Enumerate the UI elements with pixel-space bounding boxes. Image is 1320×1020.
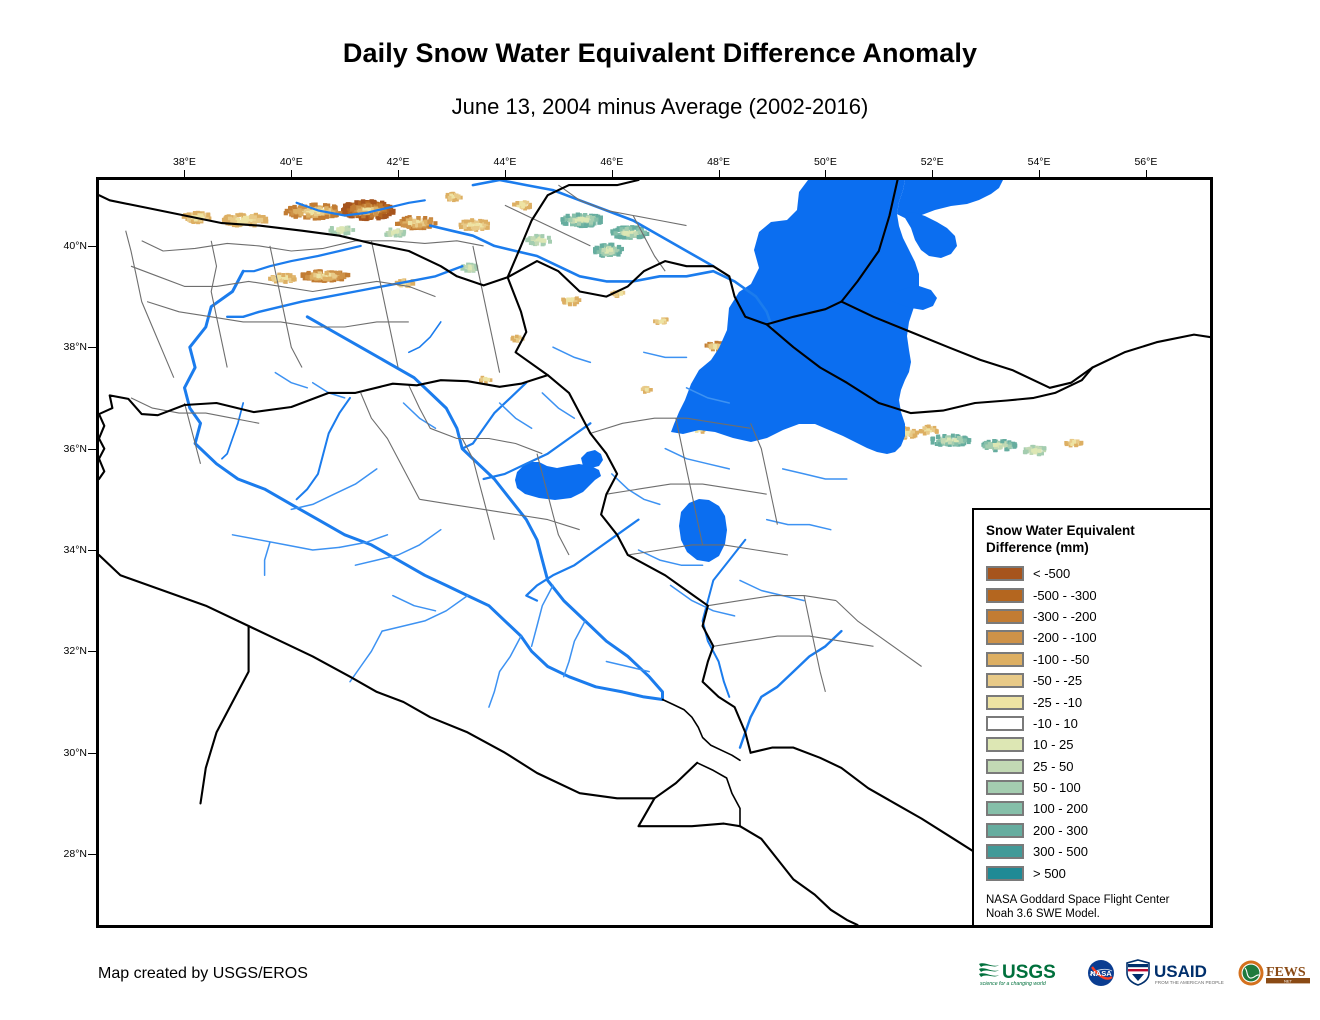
legend-swatch	[986, 695, 1024, 710]
swe-cell	[624, 231, 628, 235]
swe-cell	[337, 271, 341, 275]
map-credit: Map created by USGS/EROS	[98, 965, 308, 983]
swe-cell	[515, 335, 519, 339]
swe-cell	[484, 220, 488, 224]
swe-cell	[294, 214, 298, 218]
swe-cell	[513, 339, 517, 343]
legend-row: < -500	[986, 563, 1210, 584]
nasa-logo-icon: NASA	[1087, 959, 1115, 987]
swe-cell	[307, 271, 311, 275]
swe-cell	[433, 221, 437, 225]
swe-cell	[614, 231, 618, 235]
legend-row: 200 - 300	[986, 820, 1210, 841]
swe-cell	[416, 216, 420, 220]
page-title: Daily Snow Water Equivalent Difference A…	[0, 38, 1320, 69]
usgs-logo[interactable]: USGS science for a changing world	[978, 958, 1078, 988]
swe-cell	[547, 236, 551, 240]
swe-cell	[231, 218, 235, 222]
swe-cell	[521, 205, 525, 209]
page-subtitle: June 13, 2004 minus Average (2002-2016)	[0, 94, 1320, 120]
swe-cell	[576, 213, 580, 217]
swe-cell	[655, 319, 659, 323]
swe-cell	[366, 203, 370, 207]
swe-cell	[401, 233, 405, 237]
legend-swatch	[986, 716, 1024, 731]
svg-text:FROM THE AMERICAN PEOPLE: FROM THE AMERICAN PEOPLE	[1155, 980, 1224, 985]
swe-cell	[922, 426, 926, 430]
legend-swatch	[986, 566, 1024, 581]
swe-cell	[617, 245, 621, 249]
swe-cell	[931, 441, 935, 445]
legend-row: -200 - -100	[986, 627, 1210, 648]
swe-cell	[395, 229, 399, 233]
swe-cell	[992, 439, 996, 443]
lat-label: 28°N	[40, 848, 87, 860]
svg-text:USGS: USGS	[1002, 962, 1056, 983]
swe-cell	[600, 244, 604, 248]
swe-cell	[985, 444, 989, 448]
swe-cell	[941, 440, 945, 444]
swe-cell	[525, 201, 529, 205]
svg-text:NASA: NASA	[1090, 969, 1112, 978]
swe-cell	[467, 227, 471, 231]
swe-cell	[371, 200, 375, 204]
swe-cell	[382, 214, 386, 218]
swe-cell	[926, 431, 930, 435]
swe-cell	[927, 425, 931, 429]
swe-cell	[709, 344, 713, 348]
fewsnet-logo-icon: FEWS NET	[1237, 958, 1313, 988]
legend-label: 300 - 500	[1033, 844, 1088, 859]
legend-swatch	[986, 759, 1024, 774]
legend-swatch	[986, 737, 1024, 752]
swe-cell	[954, 442, 958, 446]
swe-cell	[463, 225, 467, 229]
lon-label: 38°E	[173, 156, 196, 168]
swe-cell	[1072, 440, 1076, 444]
swe-cell	[298, 208, 302, 212]
legend-row: -10 - 10	[986, 713, 1210, 734]
legend-row: -25 - -10	[986, 691, 1210, 712]
legend-row: -100 - -50	[986, 649, 1210, 670]
swe-cell	[609, 248, 613, 252]
swe-cell	[346, 273, 350, 277]
swe-cell	[486, 378, 490, 382]
legend-swatch	[986, 630, 1024, 645]
legend-row: 10 - 25	[986, 734, 1210, 755]
swe-cell	[562, 300, 566, 304]
swe-cell	[535, 241, 539, 245]
swe-cell	[391, 231, 395, 235]
lon-label: 48°E	[707, 156, 730, 168]
legend-title: Snow Water Equivalent Difference (mm)	[986, 522, 1186, 556]
lat-label: 30°N	[40, 747, 87, 759]
legend-row: -50 - -25	[986, 670, 1210, 691]
swe-cell	[197, 213, 201, 217]
legend-swatch	[986, 823, 1024, 838]
swe-cell	[540, 234, 544, 238]
swe-cell	[292, 205, 296, 209]
lon-label: 44°E	[493, 156, 516, 168]
swe-cell	[332, 204, 336, 208]
swe-cell	[378, 204, 382, 208]
lon-label: 52°E	[921, 156, 944, 168]
swe-cell	[1025, 450, 1029, 454]
swe-cell	[408, 221, 412, 225]
swe-cell	[516, 339, 520, 343]
swe-cell	[920, 430, 924, 434]
swe-cell	[361, 199, 365, 203]
swe-cell	[957, 436, 961, 440]
legend-swatch	[986, 844, 1024, 859]
swe-cell	[572, 214, 576, 218]
swe-cell	[222, 218, 226, 222]
svg-text:NET: NET	[1284, 978, 1293, 983]
swe-cell	[1042, 446, 1046, 450]
swe-cell	[410, 282, 414, 286]
swe-cell	[618, 235, 622, 239]
swe-cell	[577, 222, 581, 226]
swe-cell	[568, 218, 572, 222]
swe-cell	[464, 265, 468, 269]
swe-cell	[291, 277, 295, 281]
legend-row: -500 - -300	[986, 584, 1210, 605]
legend-source-line1: NASA Goddard Space Flight Center	[986, 893, 1201, 907]
swe-cell	[475, 226, 479, 230]
swe-cell	[341, 273, 345, 277]
swe-cell	[317, 274, 321, 278]
svg-text:science for a changing world: science for a changing world	[980, 981, 1047, 987]
swe-cell	[989, 445, 993, 449]
swe-cell	[906, 427, 910, 431]
swe-cell	[963, 438, 967, 442]
swe-cell	[637, 235, 641, 239]
swe-cell	[1008, 445, 1012, 449]
swe-cell	[271, 276, 275, 280]
swe-cell	[301, 272, 305, 276]
swe-cell	[568, 302, 572, 306]
swe-cell	[936, 435, 940, 439]
swe-cell	[418, 223, 422, 227]
swe-cell	[599, 220, 603, 224]
legend-label: 50 - 100	[1033, 780, 1081, 795]
legend-swatch	[986, 673, 1024, 688]
swe-cell	[293, 209, 297, 213]
swe-cell	[584, 218, 588, 222]
legend-source-note: NASA Goddard Space Flight Center Noah 3.…	[986, 893, 1201, 921]
swe-cell	[948, 441, 952, 445]
swe-cell	[512, 203, 516, 207]
legend-row: 100 - 200	[986, 798, 1210, 819]
legend-row: > 500	[986, 862, 1210, 883]
lat-label: 34°N	[40, 544, 87, 556]
swe-cell	[630, 234, 634, 238]
swe-cell	[602, 248, 606, 252]
swe-cell	[584, 223, 588, 227]
lat-label: 36°N	[40, 443, 87, 455]
swe-cell	[306, 213, 310, 217]
swe-cell	[530, 241, 534, 245]
legend-row: 25 - 50	[986, 756, 1210, 777]
swe-cell	[573, 302, 577, 306]
legend-label: -50 - -25	[1033, 673, 1082, 688]
swe-cell	[324, 206, 328, 210]
legend-swatch	[986, 780, 1024, 795]
swe-cell	[193, 211, 197, 215]
swe-cell	[412, 219, 416, 223]
swe-cell	[1013, 442, 1017, 446]
swe-cell	[284, 280, 288, 284]
nasa-logo[interactable]: NASA	[1087, 958, 1115, 988]
swe-cell	[257, 218, 261, 222]
legend-swatch	[986, 609, 1024, 624]
usaid-logo[interactable]: USAID FROM THE AMERICAN PEOPLE	[1124, 958, 1228, 988]
swe-cell	[1000, 439, 1004, 443]
legend-row: -300 - -200	[986, 606, 1210, 627]
legend-label: < -500	[1033, 566, 1070, 581]
lat-label: 32°N	[40, 645, 87, 657]
swe-cell	[468, 267, 472, 271]
legend-row: 300 - 500	[986, 841, 1210, 862]
lon-label: 50°E	[814, 156, 837, 168]
swe-cell	[625, 227, 629, 231]
legend-swatch	[986, 652, 1024, 667]
swe-cell	[935, 429, 939, 433]
swe-cell	[342, 207, 346, 211]
swe-cell	[305, 275, 309, 279]
swe-cell	[332, 274, 336, 278]
swe-cell	[457, 196, 461, 200]
swe-cell	[999, 445, 1003, 449]
swe-cell	[541, 239, 545, 243]
map-legend: Snow Water Equivalent Difference (mm) < …	[972, 508, 1212, 927]
legend-label: 100 - 200	[1033, 801, 1088, 816]
legend-label: 10 - 25	[1033, 737, 1073, 752]
swe-cell	[351, 228, 355, 232]
fewsnet-logo[interactable]: FEWS NET	[1237, 958, 1313, 988]
swe-cell	[288, 206, 292, 210]
swe-cell	[548, 240, 552, 244]
swe-cell	[645, 388, 649, 392]
legend-row: 50 - 100	[986, 777, 1210, 798]
legend-label: -200 - -100	[1033, 630, 1097, 645]
swe-cell	[486, 226, 490, 230]
svg-text:USAID: USAID	[1154, 962, 1207, 981]
legend-label: 200 - 300	[1033, 823, 1088, 838]
legend-swatch	[986, 866, 1024, 881]
swe-cell	[1074, 443, 1078, 447]
legend-title-line2: Difference (mm)	[986, 539, 1186, 556]
swe-cell	[931, 437, 935, 441]
swe-cell	[622, 235, 626, 239]
legend-label: -500 - -300	[1033, 588, 1097, 603]
swe-cell	[594, 218, 598, 222]
partner-logos: USGS science for a changing world NASA U…	[978, 955, 1313, 991]
lat-label: 38°N	[40, 341, 87, 353]
swe-cell	[344, 232, 348, 236]
swe-cell	[329, 229, 333, 233]
swe-cell	[323, 277, 327, 281]
legend-label: -100 - -50	[1033, 652, 1089, 667]
swe-cell	[187, 218, 191, 222]
legend-label: > 500	[1033, 866, 1066, 881]
swe-cell	[915, 431, 919, 435]
lat-label: 40°N	[40, 240, 87, 252]
swe-cell	[1065, 442, 1069, 446]
swe-cell	[578, 217, 582, 221]
swe-cell	[575, 296, 579, 300]
swe-cell	[464, 220, 468, 224]
swe-cell	[649, 388, 653, 392]
swe-cell	[281, 273, 285, 277]
swe-cell	[253, 215, 257, 219]
swe-cell	[995, 443, 999, 447]
legend-title-line1: Snow Water Equivalent	[986, 522, 1186, 539]
swe-cell	[470, 218, 474, 222]
legend-swatch	[986, 588, 1024, 603]
swe-cell	[427, 220, 431, 224]
swe-cell	[389, 210, 393, 214]
swe-cell	[388, 232, 392, 236]
swe-cell	[589, 220, 593, 224]
swe-cell	[527, 237, 531, 241]
swe-cell	[336, 228, 340, 232]
swe-cell	[311, 203, 315, 207]
swe-cell	[1033, 450, 1037, 454]
lon-label: 56°E	[1134, 156, 1157, 168]
swe-cell	[288, 274, 292, 278]
swe-cell	[328, 277, 332, 281]
swe-cell	[566, 214, 570, 218]
legend-source-line2: Noah 3.6 SWE Model.	[986, 907, 1201, 921]
swe-cell	[347, 228, 351, 232]
legend-label: -10 - 10	[1033, 716, 1078, 731]
swe-cell	[531, 236, 535, 240]
legend-swatch	[986, 801, 1024, 816]
lon-label: 46°E	[600, 156, 623, 168]
swe-cell	[321, 216, 325, 220]
swe-cell	[713, 344, 717, 348]
swe-cell	[511, 336, 515, 340]
legend-label: -25 - -10	[1033, 695, 1082, 710]
swe-cell	[595, 246, 599, 250]
legend-class-list: < -500-500 - -300-300 - -200-200 - -100-…	[986, 563, 1210, 884]
swe-cell	[423, 216, 427, 220]
swe-cell	[1037, 452, 1041, 456]
swe-cell	[206, 213, 210, 217]
swe-cell	[1038, 449, 1042, 453]
swe-cell	[660, 320, 664, 324]
usaid-logo-icon: USAID FROM THE AMERICAN PEOPLE	[1124, 958, 1228, 988]
swe-cell	[448, 196, 452, 200]
lon-label: 40°E	[280, 156, 303, 168]
swe-cell	[249, 215, 253, 219]
swe-cell	[459, 225, 463, 229]
usgs-logo-icon: USGS science for a changing world	[978, 958, 1078, 988]
legend-label: 25 - 50	[1033, 759, 1073, 774]
swe-cell	[243, 216, 247, 220]
swe-cell	[597, 250, 601, 254]
swe-cell	[325, 271, 329, 275]
lon-label: 54°E	[1028, 156, 1051, 168]
swe-cell	[374, 212, 378, 216]
swe-cell	[616, 252, 620, 256]
legend-label: -300 - -200	[1033, 609, 1097, 624]
lon-label: 42°E	[387, 156, 410, 168]
swe-cell	[560, 218, 564, 222]
swe-cell	[632, 226, 636, 230]
swe-cell	[951, 434, 955, 438]
